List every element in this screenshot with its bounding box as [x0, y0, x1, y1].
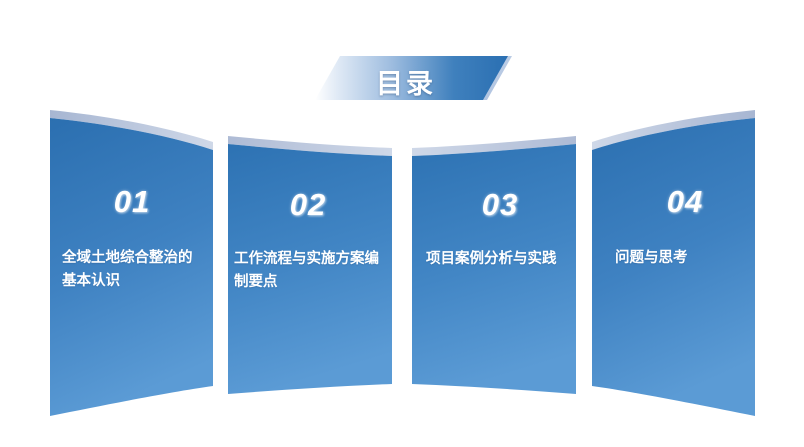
- agenda-panel-4-content: 04 问题与思考: [615, 186, 755, 270]
- agenda-slide: 目录 01 全域土地综合整治的基本认识: [0, 0, 804, 447]
- agenda-panel-4-label: 问题与思考: [615, 247, 755, 270]
- agenda-panel-4-number: 04: [615, 186, 755, 217]
